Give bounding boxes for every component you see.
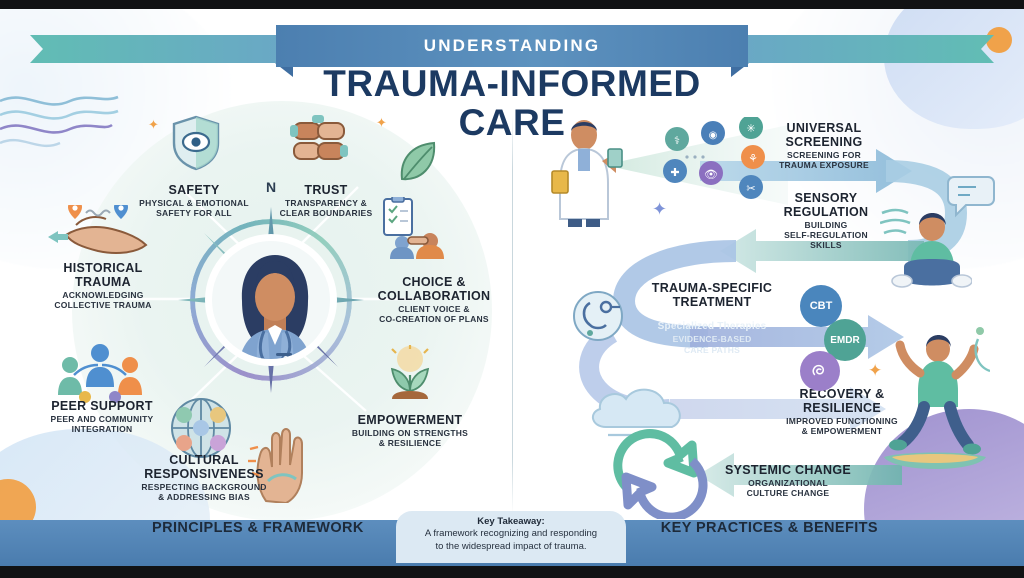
speech-bubble-icon (944, 175, 996, 219)
node-choice-collaboration: CHOICE &COLLABORATION CLIENT VOICE &CO-C… (360, 275, 508, 324)
node-choice-collaboration-sub: CLIENT VOICE &CO-CREATION OF PLANS (360, 304, 508, 324)
sparkle-icon-recovery: ✦ (868, 361, 882, 381)
cycle-arrows-icon (608, 427, 712, 519)
node-empowerment: EMPOWERMENT BUILDING ON STRENGTHS& RESIL… (330, 413, 490, 448)
ribbon-tail-left (30, 35, 290, 63)
therapy-pill-somatic[interactable] (800, 351, 840, 391)
somatic-swirl-icon (807, 358, 833, 384)
therapy-pill-cbt-label: CBT (810, 300, 833, 312)
node-trauma-specific-treatment-heading: TRAUMA-SPECIFICTREATMENT (624, 281, 800, 309)
sparkle-icon-safety: ✦ (148, 117, 159, 133)
node-empowerment-sub: BUILDING ON STRENGTHS& RESILIENCE (330, 428, 490, 448)
node-historical-trauma-sub: ACKNOWLEDGINGCOLLECTIVE TRAUMA (26, 290, 180, 310)
svg-text:✂: ✂ (746, 183, 755, 195)
node-recovery-resilience: RECOVERY &RESILIENCE IMPROVED FUNCTIONIN… (752, 387, 932, 436)
meditating-person-icon (880, 205, 972, 301)
right-panel-footer-label: KEY PRACTICES & BENEFITS (661, 520, 878, 536)
node-trust-heading: TRUST (262, 183, 390, 197)
node-peer-support-sub: PEER AND COMMUNITYINTEGRATION (22, 414, 182, 434)
letterbox-bottom (0, 566, 1024, 578)
infographic-canvas: UNDERSTANDING TRAUMA-INFORMED CARE N (0, 0, 1024, 578)
sprout-lightbulb-icon (380, 345, 440, 403)
node-sensory-regulation-heading: SENSORYREGULATION (760, 191, 892, 219)
left-panel-footer-label: PRINCIPLES & FRAMEWORK (152, 520, 364, 536)
sparkle-icon-trust: ✦ (376, 115, 387, 131)
svg-text:✚: ✚ (670, 167, 679, 179)
avatar (208, 237, 334, 363)
sparkle-icon-screening: ✦ (652, 199, 667, 220)
node-sensory-regulation-sub: BUILDINGSELF-REGULATIONSKILLS (760, 220, 892, 251)
brain-circuit-icon (570, 287, 626, 345)
therapy-pill-emdr-label: EMDR (830, 335, 859, 346)
node-systemic-change-sub: ORGANIZATIONALCULTURE CHANGE (700, 478, 876, 498)
clasped-hands-icon (288, 113, 350, 171)
node-systemic-change-heading: SYSTEMIC CHANGE (700, 463, 876, 477)
node-universal-screening-sub: SCREENING FORTRAUMA EXPOSURE (756, 150, 892, 170)
node-universal-screening-heading: UNIVERSALSCREENING (756, 121, 892, 149)
node-safety: SAFETY PHYSICAL & EMOTIONALSAFETY FOR AL… (126, 183, 262, 218)
node-sensory-regulation: SENSORYREGULATION BUILDINGSELF-REGULATIO… (760, 191, 892, 251)
node-empowerment-heading: EMPOWERMENT (330, 413, 490, 427)
node-cultural-responsiveness: CULTURALRESPONSIVENESS RESPECTING BACKGR… (124, 453, 284, 502)
svg-text:⚕: ⚕ (674, 135, 680, 147)
leaf-icon (396, 139, 440, 187)
node-cultural-responsiveness-sub: RESPECTING BACKGROUND& ADDRESSING BIAS (124, 482, 284, 502)
node-systemic-change: SYSTEMIC CHANGE ORGANIZATIONALCULTURE CH… (700, 463, 876, 498)
compass-rose: N (176, 205, 366, 395)
kicker-text: UNDERSTANDING (424, 36, 601, 56)
node-trauma-specific-treatment: TRAUMA-SPECIFICTREATMENT (624, 281, 800, 309)
specialized-therapies-label: Specialized Therapies (624, 321, 800, 332)
key-takeaway-card: Key Takeaway: A framework recognizing an… (396, 511, 626, 563)
node-trauma-specific-treatment-bands: Specialized Therapies EVIDENCE-BASEDCARE… (624, 321, 800, 355)
node-choice-collaboration-heading: CHOICE &COLLABORATION (360, 275, 508, 303)
node-historical-trauma-heading: HISTORICALTRAUMA (26, 261, 180, 289)
poster-body: UNDERSTANDING TRAUMA-INFORMED CARE N (0, 9, 1024, 566)
svg-text:◉: ◉ (709, 130, 718, 141)
ribbon-tail-right (734, 35, 994, 63)
shield-eye-icon (170, 115, 222, 171)
node-universal-screening: UNIVERSALSCREENING SCREENING FORTRAUMA E… (756, 121, 892, 170)
node-recovery-resilience-sub: IMPROVED FUNCTIONING& EMPOWERMENT (752, 416, 932, 436)
title-line-1: TRAUMA-INFORMED (0, 65, 1024, 104)
node-peer-support-heading: PEER SUPPORT (22, 399, 182, 413)
node-peer-support: PEER SUPPORT PEER AND COMMUNITYINTEGRATI… (22, 399, 182, 434)
node-trust-sub: TRANSPARENCY &CLEAR BOUNDARIES (262, 198, 390, 218)
node-safety-heading: SAFETY (126, 183, 262, 197)
svg-text:✳: ✳ (746, 123, 755, 135)
clinician-illustration (212, 241, 334, 363)
key-takeaway-body: A framework recognizing and respondingto… (396, 528, 626, 554)
panel-divider (512, 114, 513, 514)
node-cultural-responsiveness-heading: CULTURALRESPONSIVENESS (124, 453, 284, 481)
letterbox-top (0, 0, 1024, 9)
evidence-based-care-paths-label: EVIDENCE-BASEDCARE PATHS (624, 334, 800, 355)
node-historical-trauma: HISTORICALTRAUMA ACKNOWLEDGINGCOLLECTIVE… (26, 261, 180, 310)
svg-text:👁: 👁 (704, 169, 718, 181)
node-safety-sub: PHYSICAL & EMOTIONALSAFETY FOR ALL (126, 198, 262, 218)
community-circle-icon (52, 339, 148, 403)
clinician-tablet-icon (540, 119, 626, 227)
ribbon-banner: UNDERSTANDING (276, 25, 748, 67)
node-trust: TRUST TRANSPARENCY &CLEAR BOUNDARIES (262, 183, 390, 218)
key-takeaway-title: Key Takeaway: (396, 516, 626, 527)
node-recovery-resilience-heading: RECOVERY &RESILIENCE (752, 387, 932, 415)
